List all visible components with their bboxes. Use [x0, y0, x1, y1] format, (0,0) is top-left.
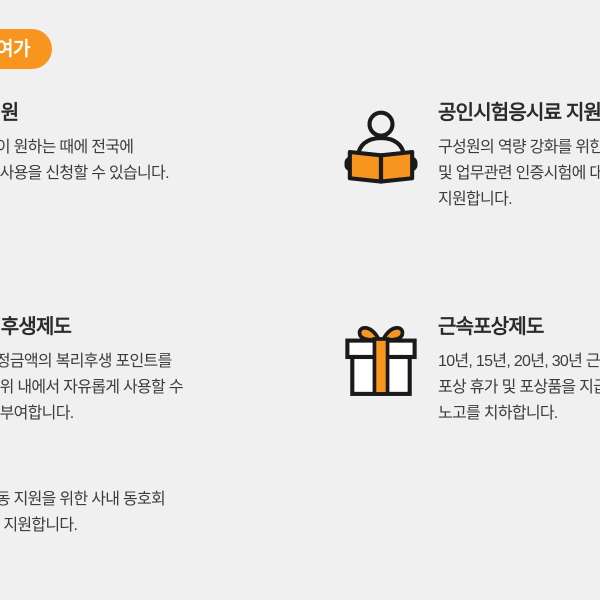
benefit-body-line: 지원합니다. — [438, 187, 600, 213]
benefit-card-club-support: 동호회 지원 다양한 취미활동 지원을 위한 사내 동호회 설립 및 운영을 지… — [0, 453, 165, 539]
benefit-body-line: 포상 휴가 및 포상품을 지급하여 — [438, 375, 600, 401]
benefit-body: 구성원의 역량 강화를 위한 어학시험 및 업무관련 인증시험에 대한 응시료를… — [438, 135, 600, 213]
benefit-body: 구성원은 본인이 원하는 때에 전국에 다양한 휴양소 사용을 신청할 수 있습… — [0, 135, 169, 187]
benefit-title: 선택적 복리후생제도 — [0, 315, 183, 340]
benefit-body-line: 설립 및 운영을 지원합니다. — [0, 513, 165, 539]
benefit-card-selective-welfare-benefit-system: 선택적 복리후생제도 구성원에게 일정금액의 복리후생 포인트를 부여해, 사용… — [0, 315, 183, 427]
benefit-card-resort-facility-support: 휴양시설 지원 구성원은 본인이 원하는 때에 전국에 다양한 휴양소 사용을 … — [0, 101, 169, 187]
benefit-body-line: 및 업무관련 인증시험에 대한 응시료를 — [438, 161, 600, 187]
benefit-body-line: 구성원의 역량 강화를 위한 어학시험 — [438, 135, 600, 161]
category-badge-label: 여가 — [0, 40, 30, 59]
benefit-card-certification-exam-fee-support: 공인시험응시료 지원 구성원의 역량 강화를 위한 어학시험 및 업무관련 인증… — [438, 101, 600, 213]
benefit-body-line: 부여해, 사용범위 내에서 자유롭게 사용할 수 — [0, 375, 183, 401]
category-badge: 여가 — [0, 29, 52, 69]
benefit-body-line: 있도록 혜택을 부여합니다. — [0, 401, 183, 427]
benefit-title: 근속포상제도 — [438, 315, 600, 340]
person-reading-book-icon — [340, 102, 422, 184]
benefit-body: 구성원에게 일정금액의 복리후생 포인트를 부여해, 사용범위 내에서 자유롭게… — [0, 349, 183, 427]
benefit-title: 공인시험응시료 지원 — [438, 101, 600, 126]
benefit-body-line: 구성원에게 일정금액의 복리후생 포인트를 — [0, 349, 183, 375]
benefit-body-line: 다양한 휴양소 사용을 신청할 수 있습니다. — [0, 161, 169, 187]
gift-box-icon — [340, 316, 422, 398]
benefit-title: 휴양시설 지원 — [0, 101, 169, 126]
benefit-body-line: 10년, 15년, 20년, 30년 근속자에게 — [438, 349, 600, 375]
benefit-title: 동호회 지원 — [0, 453, 165, 478]
benefit-body-line: 노고를 치하합니다. — [438, 401, 600, 427]
benefit-body: 다양한 취미활동 지원을 위한 사내 동호회 설립 및 운영을 지원합니다. — [0, 487, 165, 539]
benefit-body-line: 다양한 취미활동 지원을 위한 사내 동호회 — [0, 487, 165, 513]
benefit-body-line: 구성원은 본인이 원하는 때에 전국에 — [0, 135, 169, 161]
benefits-page: 여가 휴양시설 지원 구성원은 본인이 원하는 때에 전국에 다양한 휴양소 사… — [0, 0, 600, 600]
benefit-card-long-service-award-system: 근속포상제도 10년, 15년, 20년, 30년 근속자에게 포상 휴가 및 … — [438, 315, 600, 427]
benefit-body: 10년, 15년, 20년, 30년 근속자에게 포상 휴가 및 포상품을 지급… — [438, 349, 600, 427]
